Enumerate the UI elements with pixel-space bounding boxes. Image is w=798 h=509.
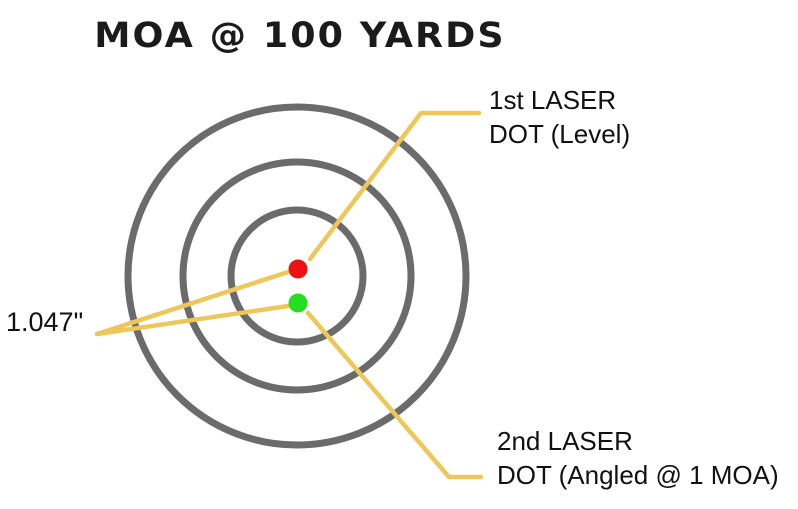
callout-first-laser-line2: DOT (Level) [489,117,630,151]
callout-second-laser-line2: DOT (Angled @ 1 MOA) [497,458,779,492]
figure-canvas: MOA @ 100 YARDS 1st LASER DOT (Level) 2n… [0,0,798,509]
callout-second-laser-line1: 2nd LASER [497,424,779,458]
first-laser-dot [289,260,308,279]
callout-first-laser: 1st LASER DOT (Level) [489,83,630,151]
callout-first-laser-line1: 1st LASER [489,83,630,117]
callout-second-laser: 2nd LASER DOT (Angled @ 1 MOA) [497,424,779,492]
second-laser-dot [289,294,308,313]
callout-moa-dimension: 1.047" [6,305,83,339]
